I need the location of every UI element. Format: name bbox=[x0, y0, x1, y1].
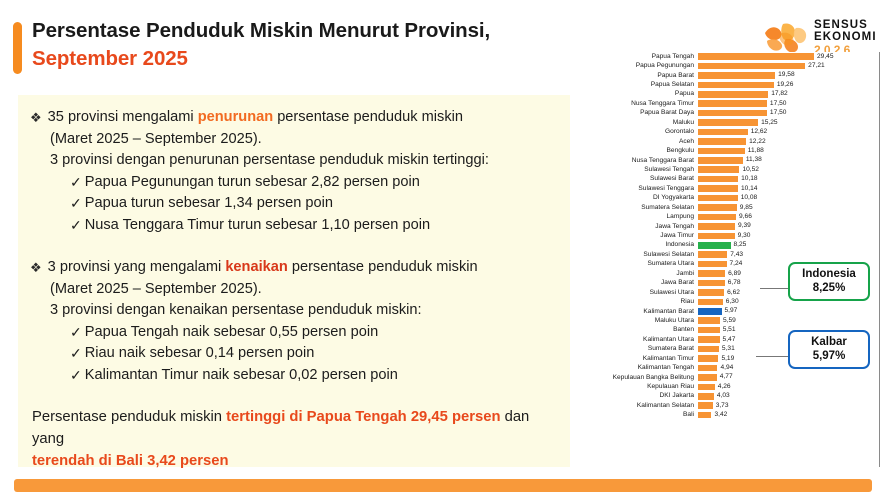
title-accent-bar bbox=[13, 22, 22, 74]
bar-track: 19,58 bbox=[698, 71, 880, 80]
bar-category-label: Sulawesi Tenggara bbox=[592, 185, 698, 193]
annotation-indonesia: Indonesia 8,25% bbox=[788, 262, 870, 301]
bar-row: DKI Jakarta4,03 bbox=[592, 392, 880, 401]
bullet2-lead-post: persentase penduduk miskin bbox=[288, 259, 478, 275]
bullet2-check-3: Kalimantan Timur naik sebesar 0,02 perse… bbox=[85, 365, 398, 387]
bar-track: 17,50 bbox=[698, 109, 880, 118]
bar-value-label: 4,03 bbox=[717, 392, 730, 401]
list-item: ✓ Nusa Tenggara Timur turun sebesar 1,10… bbox=[70, 215, 562, 237]
bar-row: Sulawesi Barat10,18 bbox=[592, 175, 880, 184]
bar-track: 3,42 bbox=[698, 411, 880, 420]
bar-row: Maluku15,25 bbox=[592, 118, 880, 127]
bar-track: 9,30 bbox=[698, 231, 880, 240]
bar-fill bbox=[698, 72, 775, 79]
bar-fill bbox=[698, 100, 767, 107]
bullet1-check-2: Papua turun sebesar 1,34 persen poin bbox=[85, 193, 333, 215]
bullet-block-penurunan: ❖ 35 provinsi mengalami penurunan persen… bbox=[30, 107, 562, 236]
bar-track: 19,26 bbox=[698, 80, 880, 89]
bar-track: 27,21 bbox=[698, 61, 880, 70]
bar-category-label: Kalimantan Tengah bbox=[592, 364, 698, 372]
bar-category-label: Bengkulu bbox=[592, 147, 698, 155]
bar-category-label: Papua Pegunungan bbox=[592, 62, 698, 70]
bar-fill bbox=[698, 195, 738, 202]
bar-track: 9,39 bbox=[698, 222, 880, 231]
bar-category-label: Bali bbox=[592, 411, 698, 419]
bar-value-label: 6,30 bbox=[726, 298, 739, 307]
bar-track: 11,38 bbox=[698, 156, 880, 165]
bar-value-label: 5,19 bbox=[721, 355, 734, 364]
bar-fill bbox=[698, 251, 727, 258]
bar-track: 5,59 bbox=[698, 316, 880, 325]
bar-category-label: Kalimantan Utara bbox=[592, 336, 698, 344]
bar-fill bbox=[698, 204, 737, 211]
bar-track: 10,18 bbox=[698, 175, 880, 184]
bar-row: Sulawesi Tengah10,52 bbox=[592, 165, 880, 174]
bullet1-period: (Maret 2025 – September 2025). bbox=[50, 129, 562, 151]
bar-fill bbox=[698, 289, 724, 296]
bar-value-label: 5,97 bbox=[725, 307, 738, 316]
bar-fill bbox=[698, 299, 723, 306]
bar-category-label: Kepulauan Bangka Belitung bbox=[592, 374, 698, 382]
bar-value-label: 17,82 bbox=[771, 90, 788, 99]
bar-fill bbox=[698, 233, 735, 240]
annotation-indonesia-value: 8,25% bbox=[790, 281, 868, 295]
check-icon: ✓ bbox=[70, 365, 82, 387]
bar-category-label: Papua Selatan bbox=[592, 81, 698, 89]
bar-category-label: Kepulauan Riau bbox=[592, 383, 698, 391]
bar-track: 5,97 bbox=[698, 307, 880, 316]
bar-category-label: Sulawesi Utara bbox=[592, 289, 698, 297]
bar-value-label: 9,30 bbox=[738, 232, 751, 241]
bar-value-label: 19,26 bbox=[777, 81, 794, 90]
bar-track: 10,52 bbox=[698, 165, 880, 174]
list-item: ✓ Riau naik sebesar 0,14 persen poin bbox=[70, 343, 562, 365]
page-title: Persentase Penduduk Miskin Menurut Provi… bbox=[32, 18, 592, 72]
footer-accent-bar bbox=[14, 479, 872, 492]
bullet2-lead: 3 provinsi yang mengalami kenaikan perse… bbox=[48, 257, 562, 279]
check-icon: ✓ bbox=[70, 172, 82, 194]
list-item: ✓ Papua Pegunungan turun sebesar 2,82 pe… bbox=[70, 172, 562, 194]
bar-fill bbox=[698, 110, 767, 117]
bar-fill bbox=[698, 336, 720, 343]
bar-category-label: Sulawesi Selatan bbox=[592, 251, 698, 259]
bar-fill bbox=[698, 53, 814, 60]
leader-line-kalbar bbox=[756, 356, 788, 357]
check-icon: ✓ bbox=[70, 215, 82, 237]
bullet2-lead-pre: 3 provinsi yang mengalami bbox=[48, 259, 226, 275]
bar-fill bbox=[698, 119, 758, 126]
bar-fill bbox=[698, 63, 805, 70]
bar-fill bbox=[698, 176, 738, 183]
bar-category-label: Kalimantan Selatan bbox=[592, 402, 698, 410]
bar-category-label: Kalimantan Barat bbox=[592, 308, 698, 316]
bar-fill bbox=[698, 393, 714, 400]
annotation-kalbar: Kalbar 5,97% bbox=[788, 330, 870, 369]
bar-value-label: 5,59 bbox=[723, 317, 736, 326]
bar-value-label: 9,66 bbox=[739, 213, 752, 222]
bar-value-label: 17,50 bbox=[770, 100, 787, 109]
bar-track: 12,22 bbox=[698, 137, 880, 146]
bar-row: Lampung9,66 bbox=[592, 212, 880, 221]
bar-value-label: 15,25 bbox=[761, 119, 778, 128]
bullet2-check-2: Riau naik sebesar 0,14 persen poin bbox=[85, 343, 315, 365]
bar-value-label: 12,22 bbox=[749, 138, 766, 147]
bar-track: 12,62 bbox=[698, 128, 880, 137]
bar-category-label: Indonesia bbox=[592, 241, 698, 249]
bar-row: Bali3,42 bbox=[592, 411, 880, 420]
bar-fill bbox=[698, 82, 774, 89]
bar-fill bbox=[698, 365, 717, 372]
bar-fill bbox=[698, 223, 735, 230]
bar-fill bbox=[698, 280, 725, 287]
bar-track: 29,45 bbox=[698, 52, 880, 61]
bar-fill bbox=[698, 138, 746, 145]
bar-value-label: 9,39 bbox=[738, 222, 751, 231]
bar-category-label: Sulawesi Barat bbox=[592, 175, 698, 183]
bar-row: Aceh12,22 bbox=[592, 137, 880, 146]
check-icon: ✓ bbox=[70, 322, 82, 344]
bar-fill bbox=[698, 148, 745, 155]
bar-row: Kepulauan Riau4,26 bbox=[592, 382, 880, 391]
bar-value-label: 4,94 bbox=[720, 364, 733, 373]
bullet2-highlight: kenaikan bbox=[225, 259, 287, 275]
bar-fill bbox=[698, 242, 731, 249]
bullet1-check-1: Papua Pegunungan turun sebesar 2,82 pers… bbox=[85, 172, 420, 194]
bar-category-label: Gorontalo bbox=[592, 128, 698, 136]
bullet1-lead-post: persentase penduduk miskin bbox=[273, 109, 463, 125]
bar-value-label: 10,52 bbox=[742, 166, 759, 175]
bar-value-label: 10,18 bbox=[741, 175, 758, 184]
bar-row: Sulawesi Tenggara10,14 bbox=[592, 184, 880, 193]
bar-category-label: Sumatera Barat bbox=[592, 345, 698, 353]
bar-row: Nusa Tenggara Timur17,50 bbox=[592, 99, 880, 108]
annotation-kalbar-value: 5,97% bbox=[790, 349, 868, 363]
bar-value-label: 29,45 bbox=[817, 53, 834, 62]
bar-category-label: Nusa Tenggara Timur bbox=[592, 100, 698, 108]
bar-fill bbox=[698, 327, 720, 334]
logo-line-sensus: SENSUS bbox=[814, 19, 877, 31]
bar-value-label: 17,50 bbox=[770, 109, 787, 118]
bullet2-check-1: Papua Tengah naik sebesar 0,55 persen po… bbox=[85, 322, 378, 344]
bar-row: Kepulauan Bangka Belitung4,77 bbox=[592, 373, 880, 382]
bullet1-lead: 35 provinsi mengalami penurunan persenta… bbox=[48, 107, 562, 129]
bar-category-label: Sumatera Utara bbox=[592, 260, 698, 268]
bar-track: 9,66 bbox=[698, 212, 880, 221]
diamond-bullet-icon: ❖ bbox=[30, 257, 42, 279]
page-title-line2: September 2025 bbox=[32, 46, 592, 72]
bar-value-label: 3,73 bbox=[716, 402, 729, 411]
bar-value-label: 4,26 bbox=[718, 383, 731, 392]
bar-value-label: 7,24 bbox=[730, 260, 743, 269]
list-item: ✓ Kalimantan Timur naik sebesar 0,02 per… bbox=[70, 365, 562, 387]
check-icon: ✓ bbox=[70, 193, 82, 215]
bar-value-label: 5,31 bbox=[722, 345, 735, 354]
bar-fill bbox=[698, 402, 713, 409]
list-item: ✓ Papua turun sebesar 1,34 persen poin bbox=[70, 193, 562, 215]
bar-category-label: Papua bbox=[592, 90, 698, 98]
bullet1-check-3: Nusa Tenggara Timur turun sebesar 1,10 p… bbox=[85, 215, 430, 237]
bar-fill bbox=[698, 346, 719, 353]
bar-row: Jawa Timur9,30 bbox=[592, 231, 880, 240]
summary-lowest: terendah di Bali 3,42 persen bbox=[32, 453, 229, 469]
province-poverty-bar-chart: Papua Tengah29,45Papua Pegunungan27,21Pa… bbox=[592, 52, 880, 467]
bar-row: Gorontalo12,62 bbox=[592, 128, 880, 137]
bar-row: Papua Pegunungan27,21 bbox=[592, 61, 880, 70]
bar-category-label: Maluku Utara bbox=[592, 317, 698, 325]
chart-right-divider bbox=[879, 52, 880, 467]
bar-track: 17,82 bbox=[698, 90, 880, 99]
bar-track: 9,85 bbox=[698, 203, 880, 212]
bar-category-label: DKI Jakarta bbox=[592, 392, 698, 400]
leader-line-indonesia bbox=[760, 288, 788, 289]
bar-row: Jawa Tengah9,39 bbox=[592, 222, 880, 231]
bullet2-period: (Maret 2025 – September 2025). bbox=[50, 279, 562, 301]
bar-row: DI Yogyakarta10,08 bbox=[592, 194, 880, 203]
bar-fill bbox=[698, 270, 725, 277]
bar-row: Papua Barat Daya17,50 bbox=[592, 109, 880, 118]
bullet-block-kenaikan: ❖ 3 provinsi yang mengalami kenaikan per… bbox=[30, 257, 562, 386]
bar-track: 4,03 bbox=[698, 392, 880, 401]
summary-highest: tertinggi di Papua Tengah 29,45 persen bbox=[226, 409, 500, 425]
bar-value-label: 6,62 bbox=[727, 289, 740, 298]
bar-fill bbox=[698, 185, 738, 192]
bar-category-label: DI Yogyakarta bbox=[592, 194, 698, 202]
bar-fill bbox=[698, 214, 736, 221]
bar-category-label: Aceh bbox=[592, 138, 698, 146]
bar-category-label: Kalimantan Timur bbox=[592, 355, 698, 363]
bar-fill bbox=[698, 166, 739, 173]
bar-value-label: 8,25 bbox=[734, 241, 747, 250]
bar-category-label: Papua Barat Daya bbox=[592, 109, 698, 117]
bar-row: Bengkulu11,88 bbox=[592, 146, 880, 155]
bar-category-label: Lampung bbox=[592, 213, 698, 221]
annotation-indonesia-label: Indonesia bbox=[790, 267, 868, 281]
bar-value-label: 27,21 bbox=[808, 62, 825, 71]
bar-value-label: 12,62 bbox=[751, 128, 768, 137]
bar-row: Indonesia8,25 bbox=[592, 241, 880, 250]
bar-value-label: 6,78 bbox=[728, 279, 741, 288]
list-item: ✓ Papua Tengah naik sebesar 0,55 persen … bbox=[70, 322, 562, 344]
bar-value-label: 6,89 bbox=[728, 270, 741, 279]
bar-value-label: 19,58 bbox=[778, 71, 795, 80]
diamond-bullet-icon: ❖ bbox=[30, 107, 42, 129]
bar-track: 7,43 bbox=[698, 250, 880, 259]
bar-category-label: Papua Tengah bbox=[592, 53, 698, 61]
bar-row: Nusa Tenggara Barat11,38 bbox=[592, 156, 880, 165]
bar-fill bbox=[698, 317, 720, 324]
bar-value-label: 11,88 bbox=[748, 147, 764, 156]
logo-line-ekonomi: EKONOMI bbox=[814, 31, 877, 43]
bar-category-label: Jawa Barat bbox=[592, 279, 698, 287]
bar-track: 15,25 bbox=[698, 118, 880, 127]
bar-fill bbox=[698, 308, 722, 315]
bar-value-label: 7,43 bbox=[730, 251, 743, 260]
bar-category-label: Jawa Timur bbox=[592, 232, 698, 240]
bar-fill bbox=[698, 374, 717, 381]
check-icon: ✓ bbox=[70, 343, 82, 365]
bar-fill bbox=[698, 91, 768, 98]
summary-statement: Persentase penduduk miskin tertinggi di … bbox=[32, 406, 556, 472]
bar-track: 4,26 bbox=[698, 382, 880, 391]
bar-value-label: 10,08 bbox=[741, 194, 758, 203]
bar-fill bbox=[698, 261, 727, 268]
summary-callout-panel: ❖ 35 provinsi mengalami penurunan persen… bbox=[18, 95, 570, 467]
bar-category-label: Banten bbox=[592, 326, 698, 334]
bar-row: Sumatera Selatan9,85 bbox=[592, 203, 880, 212]
bar-track: 4,77 bbox=[698, 373, 880, 382]
bar-row: Sulawesi Selatan7,43 bbox=[592, 250, 880, 259]
page-title-line1: Persentase Penduduk Miskin Menurut Provi… bbox=[32, 18, 592, 44]
bullet1-lead-pre: 35 provinsi mengalami bbox=[48, 109, 198, 125]
bar-fill bbox=[698, 384, 715, 391]
bar-category-label: Jawa Tengah bbox=[592, 223, 698, 231]
bar-row: Papua Barat19,58 bbox=[592, 71, 880, 80]
bar-fill bbox=[698, 412, 711, 419]
bar-fill bbox=[698, 129, 748, 136]
bar-category-label: Jambi bbox=[592, 270, 698, 278]
bar-row: Papua17,82 bbox=[592, 90, 880, 99]
bar-category-label: Sulawesi Tengah bbox=[592, 166, 698, 174]
bar-value-label: 11,38 bbox=[746, 156, 762, 165]
bar-category-label: Papua Barat bbox=[592, 72, 698, 80]
bullet1-highlight: penurunan bbox=[198, 109, 273, 125]
bar-track: 17,50 bbox=[698, 99, 880, 108]
bullet1-sub: 3 provinsi dengan penurunan persentase p… bbox=[50, 150, 562, 172]
bar-track: 8,25 bbox=[698, 241, 880, 250]
bar-value-label: 3,42 bbox=[714, 411, 727, 420]
bar-value-label: 5,51 bbox=[723, 326, 736, 335]
bar-track: 10,14 bbox=[698, 184, 880, 193]
bar-row: Kalimantan Selatan3,73 bbox=[592, 401, 880, 410]
bar-track: 3,73 bbox=[698, 401, 880, 410]
bar-value-label: 5,47 bbox=[723, 336, 736, 345]
summary-pre: Persentase penduduk miskin bbox=[32, 409, 226, 425]
bar-category-label: Riau bbox=[592, 298, 698, 306]
bar-row: Kalimantan Barat5,97 bbox=[592, 307, 880, 316]
bar-category-label: Maluku bbox=[592, 119, 698, 127]
bar-value-label: 9,85 bbox=[740, 204, 753, 213]
bullet2-sub: 3 provinsi dengan kenaikan persentase pe… bbox=[50, 300, 562, 322]
bar-fill bbox=[698, 157, 743, 164]
bar-fill bbox=[698, 355, 718, 362]
bar-track: 11,88 bbox=[698, 146, 880, 155]
bar-row: Papua Selatan19,26 bbox=[592, 80, 880, 89]
bar-row: Papua Tengah29,45 bbox=[592, 52, 880, 61]
bar-value-label: 10,14 bbox=[741, 185, 758, 194]
bar-category-label: Sumatera Selatan bbox=[592, 204, 698, 212]
bar-row: Maluku Utara5,59 bbox=[592, 316, 880, 325]
bar-value-label: 4,77 bbox=[720, 373, 733, 382]
annotation-kalbar-label: Kalbar bbox=[790, 335, 868, 349]
bar-track: 10,08 bbox=[698, 194, 880, 203]
bar-category-label: Nusa Tenggara Barat bbox=[592, 157, 698, 165]
